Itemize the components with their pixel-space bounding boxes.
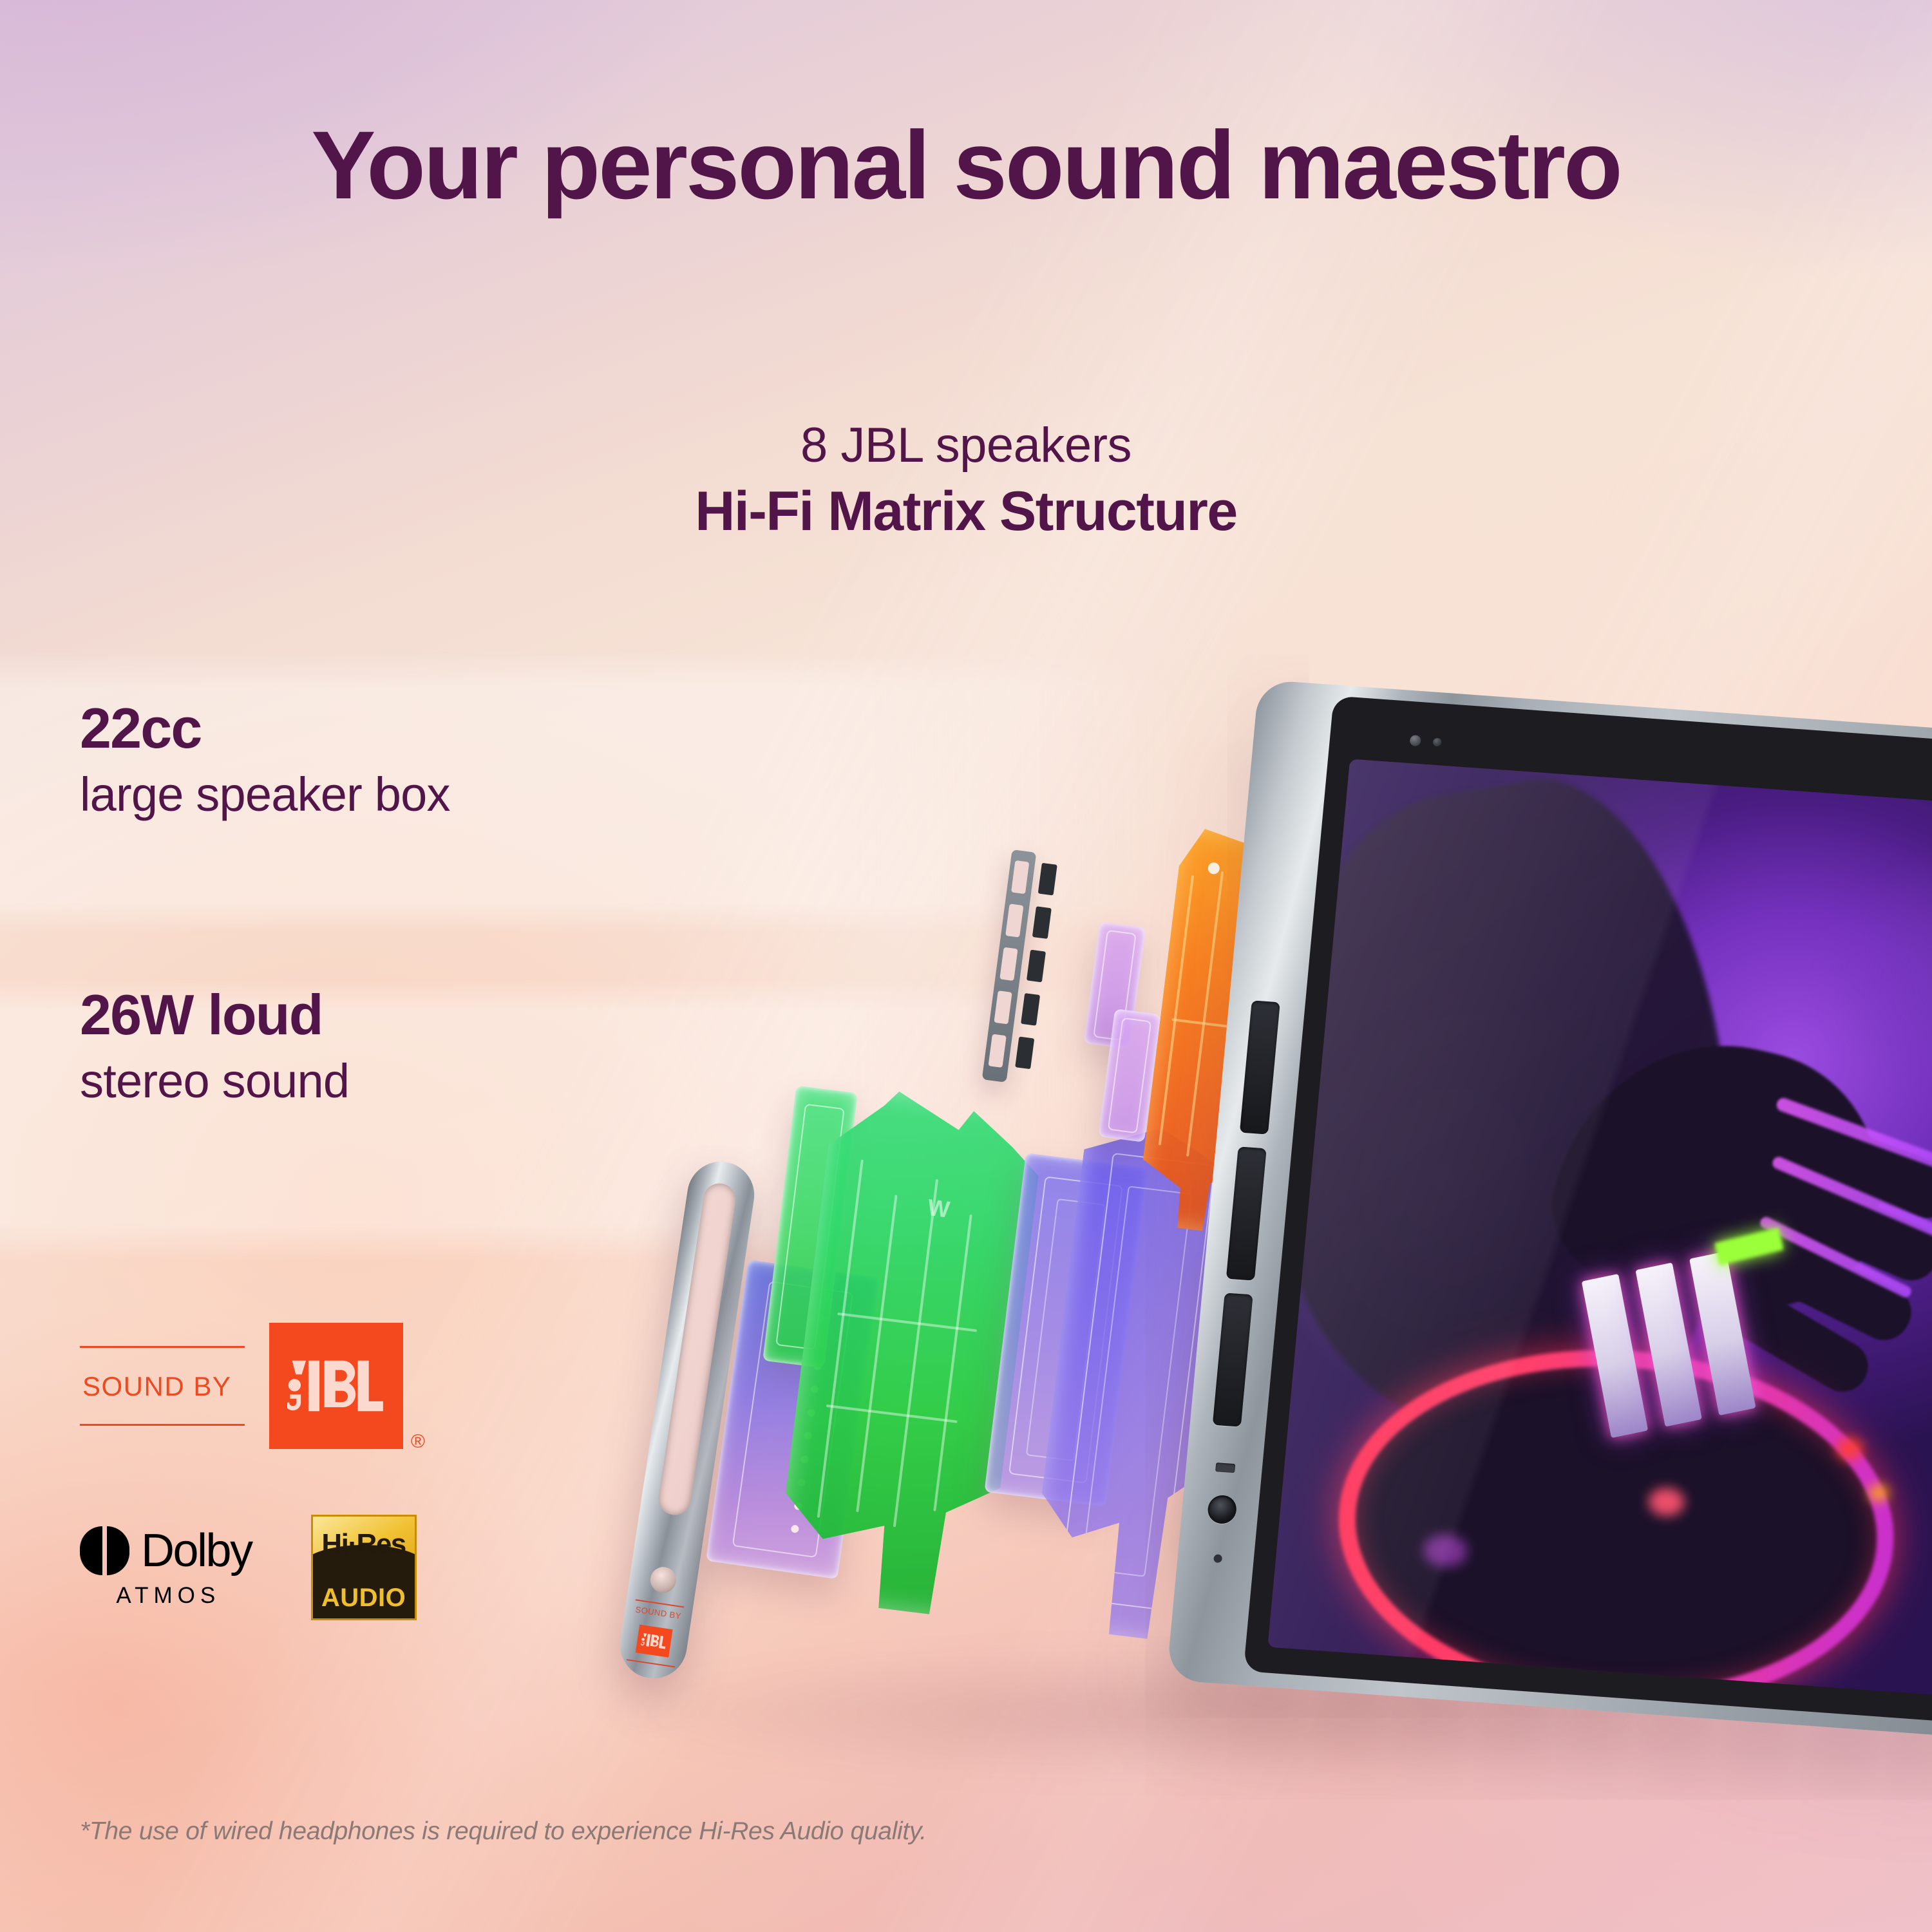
screen-dj-finger (1750, 1102, 1932, 1226)
dolby-d-left (80, 1526, 102, 1575)
front-camera-icon (1409, 735, 1421, 746)
background-pink-bloom (0, 0, 1932, 1932)
exploded-part-violet-mid-panel (984, 1153, 1147, 1506)
assembly-rib (826, 1405, 958, 1423)
scene-contact-shadow (612, 1649, 1707, 1777)
grille-hole (994, 990, 1012, 1024)
panel-pin (810, 1385, 819, 1394)
module-chip (1224, 1265, 1232, 1271)
feature-speaker-box: 22cc large speaker box (80, 699, 450, 822)
exploded-part-metal-grille-strip (982, 849, 1037, 1083)
screen-dj-finger-rimlight (1758, 1215, 1913, 1300)
speaker-slot (1226, 1146, 1267, 1280)
bracket-ridge (1108, 1018, 1152, 1134)
sound-by-wrap: SOUND BY (80, 1321, 245, 1450)
subheading-block: 8 JBL speakers Hi-Fi Matrix Structure (0, 417, 1932, 545)
gasket-dash (1038, 863, 1057, 896)
screen-mixer-fader (1582, 1274, 1648, 1438)
screen-turntable-neon-ring (1323, 1331, 1910, 1699)
bracket-sound-by-label: SOUND BY (632, 1604, 685, 1622)
gasket-dash (1021, 993, 1040, 1026)
background-peach-bloom (0, 0, 1932, 1932)
panel-pin (817, 1338, 826, 1347)
bracket-ridge (1093, 930, 1137, 1041)
hi-res-audio-badge: Hi·Res AUDIO (311, 1515, 417, 1620)
promo-banner: SOUND BY (0, 0, 1932, 1932)
sound-by-rule-bottom (80, 1424, 245, 1426)
feature-description: stereo sound (80, 1055, 349, 1108)
dolby-format-label: ATMOS (111, 1583, 220, 1609)
grille-hole (1011, 860, 1029, 894)
screen-bokeh-light (1835, 1437, 1864, 1461)
feature-value: 22cc (80, 699, 450, 758)
hi-res-audio-label: AUDIO (321, 1585, 406, 1611)
grille-hole (988, 1034, 1006, 1068)
bracket-rule-bottom (627, 1659, 675, 1667)
dolby-wordmark: Dolby (141, 1529, 252, 1573)
panel-pin (813, 1361, 822, 1370)
dolby-double-d-icon (80, 1526, 129, 1575)
screen-dj-arm-silhouette (1267, 759, 1774, 1481)
feature-value: 26W loud (80, 985, 349, 1045)
exploded-part-lilac-bracket-upper (1084, 922, 1146, 1049)
panel-ridge (1009, 1176, 1123, 1484)
background-gradient-base (0, 0, 1932, 1932)
board-trace (1171, 1018, 1239, 1029)
assembly-rib (893, 1179, 938, 1527)
board-trace (1186, 871, 1224, 1157)
product-scene: SOUND BY (0, 0, 1932, 1932)
panel-pin (800, 1455, 809, 1464)
tablet-screen (1267, 759, 1932, 1699)
page-title: Your personal sound maestro (0, 115, 1932, 216)
screen-mixer-led (1714, 1227, 1784, 1265)
headphone-jack[interactable] (1207, 1494, 1238, 1524)
exploded-part-lilac-bracket-lower (1098, 1009, 1160, 1142)
module-ridge-inner (1211, 1294, 1273, 1527)
board-contact (1243, 842, 1256, 855)
speaker-slot (1240, 1000, 1280, 1134)
panel-ridge-inner (1026, 1198, 1106, 1461)
assembly-rib (817, 1159, 863, 1517)
screen-glass-reflection (1267, 759, 1932, 1699)
panel-pin (807, 1408, 816, 1417)
dolby-atmos-badge: Dolby ATMOS (80, 1526, 252, 1609)
panel-pin (820, 1315, 829, 1324)
exploded-part-dashed-gasket-strip (1012, 863, 1058, 1088)
exploded-part-blue-violet-panel (706, 1260, 880, 1579)
screen-stage-haze (1267, 759, 1932, 1699)
screen-dj-finger (1732, 1220, 1920, 1349)
jbl-logo-icon (287, 1350, 385, 1421)
feature-stereo-sound: 26W loud stereo sound (80, 985, 349, 1108)
dolby-d-right (107, 1526, 129, 1575)
screen-bokeh-light (1647, 1486, 1686, 1517)
screen-mixer-fader (1689, 1251, 1756, 1416)
panel-ridge (732, 1281, 853, 1558)
frame-ridge (1058, 1153, 1215, 1610)
footnote-disclaimer: *The use of wired headphones is required… (80, 1817, 927, 1846)
tablet-device (1166, 679, 1932, 1741)
jbl-logo-glyph (640, 1631, 668, 1651)
panel-pin (793, 1501, 802, 1510)
background-sheen-streaks (0, 0, 1932, 1932)
module-ridge (1198, 1275, 1285, 1546)
rail-ridge (1260, 933, 1312, 1199)
screen-dj-hand-silhouette (1533, 1012, 1911, 1345)
power-button[interactable] (1322, 771, 1350, 839)
hi-res-label: Hi·Res (321, 1530, 405, 1558)
exploded-part-green-speaker-assembly: W (773, 1084, 1046, 1621)
panel-pin (790, 1525, 799, 1534)
rail-ridge (775, 1103, 844, 1350)
screen-mixer-fader (1635, 1262, 1701, 1426)
sound-by-label: SOUND BY (80, 1348, 245, 1424)
microphone-hole (1213, 1554, 1222, 1563)
certification-badges: Dolby ATMOS Hi·Res AUDIO (80, 1515, 417, 1620)
bracket-rule-top (636, 1599, 684, 1607)
screen-mixer-faders (1577, 1237, 1823, 1439)
exploded-part-green-side-rail (762, 1086, 858, 1368)
bracket-slot (656, 1181, 737, 1517)
screen-dj-finger (1745, 1160, 1932, 1289)
exploded-part-orange-amplifier-board (1135, 826, 1280, 1235)
screen-dj-finger-rimlight (1770, 1155, 1932, 1238)
exploded-part-violet-speaker-frame (1026, 1119, 1247, 1644)
screen-bokeh-light (1868, 1484, 1889, 1502)
tablet-metal-frame (1166, 679, 1932, 1741)
background-light-bands (0, 0, 1932, 1932)
dolby-logo: Dolby (80, 1526, 252, 1575)
module-chip (1276, 1274, 1284, 1281)
exploded-part-orchid-speaker-module (1181, 1255, 1302, 1566)
gasket-dash (1015, 1036, 1034, 1069)
screen-turntable-platter (1362, 1387, 1868, 1688)
subheading-matrix-structure: Hi-Fi Matrix Structure (0, 478, 1932, 545)
board-trace (1217, 891, 1251, 1144)
panel-pin (797, 1478, 806, 1487)
grille-hole (1005, 904, 1023, 937)
sound-by-jbl-lockup: SOUND BY ® (80, 1321, 403, 1450)
panel-pin-column (788, 1292, 830, 1551)
module-chip (1242, 1542, 1249, 1548)
bracket-jbl-mark (636, 1625, 673, 1658)
front-sensor-icon (1433, 738, 1442, 747)
frame-ridge-inner (1081, 1186, 1192, 1577)
feature-description: large speaker box (80, 768, 450, 822)
exploded-part-periwinkle-rail (1252, 914, 1321, 1218)
panel-pin (803, 1432, 812, 1441)
speaker-slot (1213, 1293, 1253, 1426)
assembly-marking: W (926, 1194, 951, 1224)
hi-res-badge-top: Hi·Res (313, 1517, 415, 1569)
screen-bokeh-light (1422, 1533, 1469, 1569)
module-chip (1193, 1539, 1200, 1545)
screen-dj-finger-rimlight (1774, 1096, 1932, 1174)
board-trace (1159, 876, 1194, 1146)
assembly-rib (856, 1195, 897, 1512)
tablet-bezel (1244, 696, 1932, 1725)
gasket-dash (1032, 906, 1052, 939)
grille-hole (999, 947, 1018, 981)
exploded-part-metal-retaining-bracket: SOUND BY (616, 1157, 759, 1683)
screen-dj-scene-base (1267, 759, 1932, 1699)
subheading-speaker-count: 8 JBL speakers (0, 417, 1932, 473)
usb-c-port[interactable] (1215, 1463, 1235, 1473)
bracket-screw-hole (649, 1566, 677, 1595)
gasket-dash (1027, 950, 1046, 983)
board-contact (1207, 862, 1220, 875)
hi-res-badge-bottom: AUDIO (313, 1569, 415, 1618)
assembly-rib (933, 1215, 972, 1511)
registered-trademark-mark: ® (411, 1432, 425, 1452)
panel-pin (823, 1292, 832, 1301)
assembly-rib (837, 1312, 977, 1332)
jbl-logo: ® (269, 1323, 403, 1449)
background-lavender-glow (0, 0, 1932, 1932)
screen-dj-finger (1714, 1277, 1877, 1401)
